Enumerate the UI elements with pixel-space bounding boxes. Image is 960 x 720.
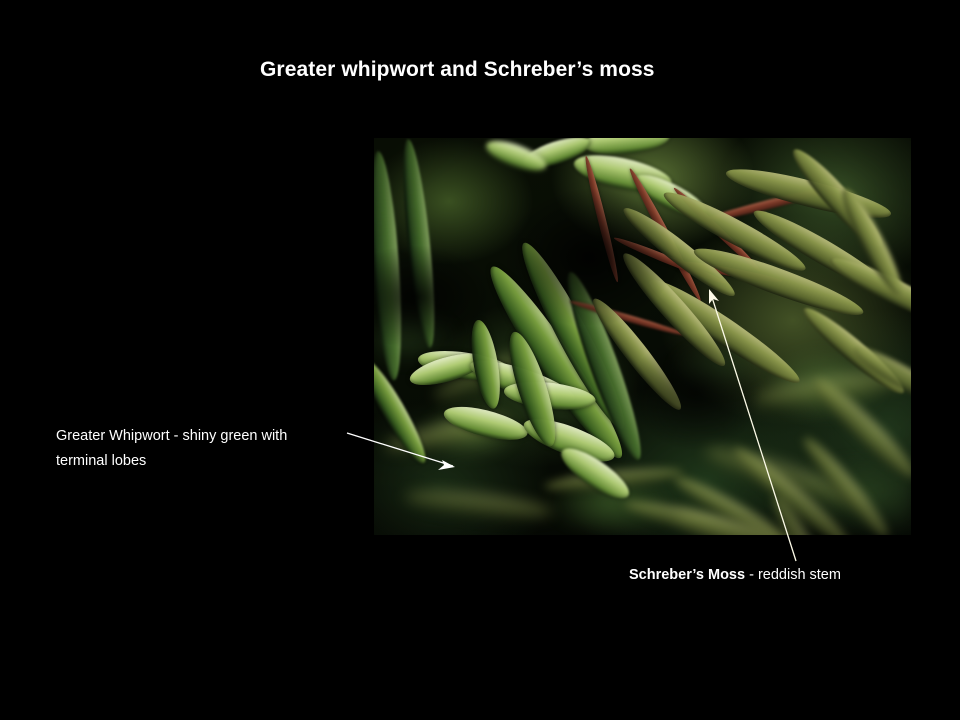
callout-whipwort-line1: Greater Whipwort - shiny green with	[56, 424, 287, 449]
callout-schrebers-moss: Schreber’s Moss - reddish stem	[629, 563, 841, 588]
photo-vignette	[374, 138, 911, 535]
callout-whipwort-line2: terminal lobes	[56, 449, 287, 474]
moss-photograph	[374, 138, 911, 535]
callout-moss-rest: - reddish stem	[745, 567, 841, 583]
callout-moss-bold: Schreber’s Moss	[629, 567, 745, 583]
page-title: Greater whipwort and Schreber’s moss	[260, 58, 655, 82]
presentation-slide: Greater whipwort and Schreber’s moss	[0, 0, 960, 720]
callout-whipwort: Greater Whipwort - shiny green with term…	[56, 424, 287, 474]
